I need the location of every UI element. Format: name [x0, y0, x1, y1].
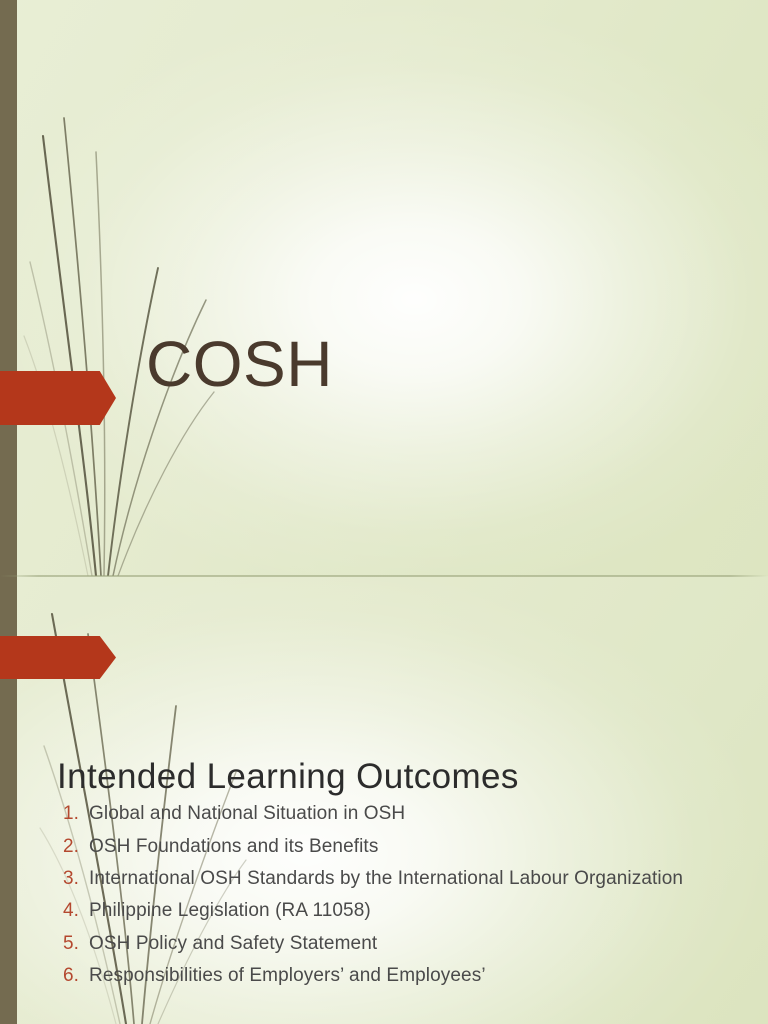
list-item-label: OSH Policy and Safety Statement	[89, 933, 377, 955]
list-item[interactable]: 6. Responsibilities of Employers’ and Em…	[57, 965, 757, 997]
arrow-banner-title	[0, 371, 116, 425]
list-item-label: International OSH Standards by the Inter…	[89, 868, 683, 890]
list-item[interactable]: 4. Philippine Legislation (RA 11058)	[57, 900, 757, 932]
page-title: COSH	[146, 331, 333, 398]
list-item[interactable]: 2. OSH Foundations and its Benefits	[57, 836, 757, 868]
list-item-number: 4.	[63, 900, 89, 922]
slide-divider	[0, 575, 768, 577]
slide-deck: COSH Intended Learning Outcomes 1.	[0, 0, 768, 1024]
list-item-number: 5.	[63, 933, 89, 955]
arrow-banner-outcomes	[0, 636, 116, 679]
list-item-label: Global and National Situation in OSH	[89, 803, 405, 825]
list-item[interactable]: 3. International OSH Standards by the In…	[57, 868, 757, 900]
outcomes-slide[interactable]: Intended Learning Outcomes 1. Global and…	[0, 576, 768, 1024]
slide-background	[0, 0, 768, 576]
title-slide[interactable]: COSH	[0, 0, 768, 576]
list-item-label: OSH Foundations and its Benefits	[89, 836, 378, 858]
list-item-number: 2.	[63, 836, 89, 858]
list-item-number: 3.	[63, 868, 89, 890]
outcomes-list: 1. Global and National Situation in OSH …	[57, 803, 757, 997]
list-item-label: Responsibilities of Employers’ and Emplo…	[89, 965, 486, 987]
list-item-number: 1.	[63, 803, 89, 825]
outcomes-content: Intended Learning Outcomes 1. Global and…	[57, 756, 757, 998]
list-item[interactable]: 1. Global and National Situation in OSH	[57, 803, 757, 835]
list-item-label: Philippine Legislation (RA 11058)	[89, 900, 371, 922]
list-item-number: 6.	[63, 965, 89, 987]
left-accent-bar	[0, 0, 17, 576]
list-item[interactable]: 5. OSH Policy and Safety Statement	[57, 933, 757, 965]
outcomes-heading: Intended Learning Outcomes	[57, 756, 757, 797]
